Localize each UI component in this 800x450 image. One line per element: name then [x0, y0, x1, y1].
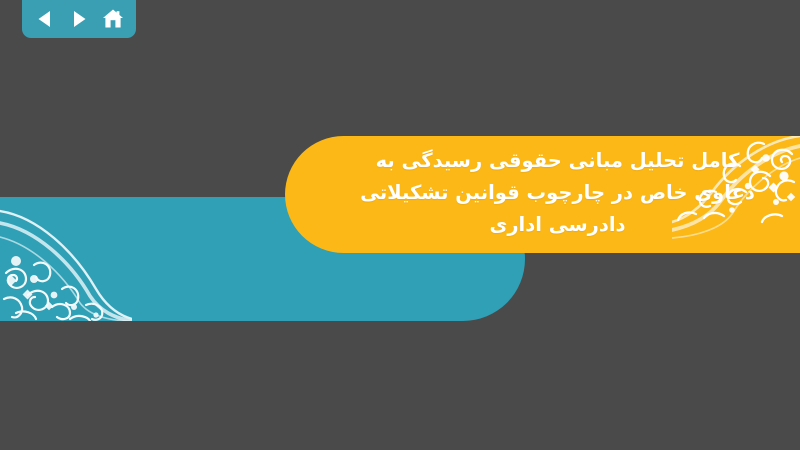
arabesque-ornament-icon [0, 203, 132, 321]
home-icon [101, 7, 125, 31]
title-banner: کامل تحلیل مبانی حقوقی رسیدگی به دعاوی خ… [285, 136, 800, 253]
triangle-right-icon [68, 8, 90, 30]
forward-button[interactable] [65, 5, 93, 33]
triangle-left-icon [34, 8, 56, 30]
slide-canvas: کامل تحلیل مبانی حقوقی رسیدگی به دعاوی خ… [0, 0, 800, 450]
title-line-1: کامل تحلیل مبانی حقوقی رسیدگی به [333, 145, 782, 177]
back-button[interactable] [31, 5, 59, 33]
title-line-2: دعاوی خاص در چارچوب قوانین تشکیلاتی [333, 177, 782, 209]
navigation-bar [22, 0, 136, 38]
title-line-3: دادرسی اداری [333, 209, 782, 241]
page-title: کامل تحلیل مبانی حقوقی رسیدگی به دعاوی خ… [333, 145, 782, 241]
home-button[interactable] [99, 5, 127, 33]
